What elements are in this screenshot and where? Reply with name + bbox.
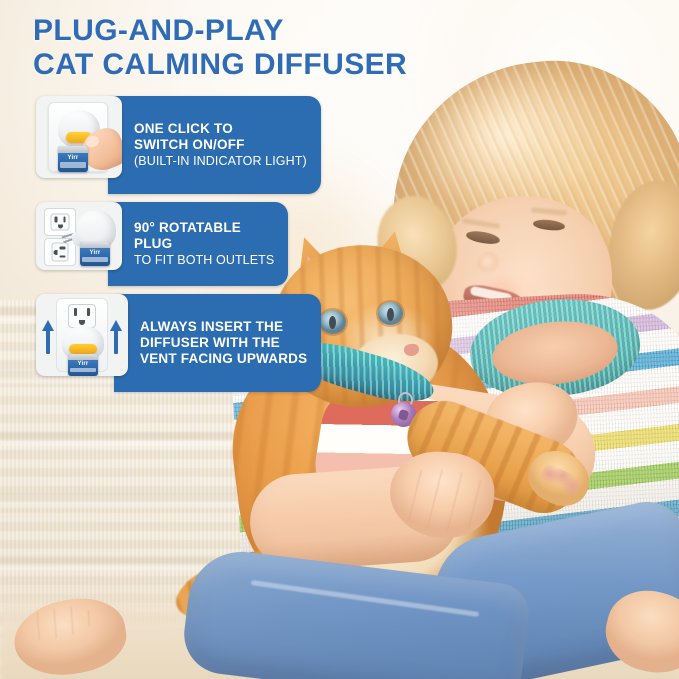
bottle-cap-icon <box>68 354 98 360</box>
socket-ground-slot <box>58 225 63 229</box>
bottle-brand-label: Yirr <box>68 361 98 367</box>
bottle-label-band <box>82 257 107 262</box>
headline-line-1: PLUG-AND-PLAY <box>33 14 284 47</box>
refill-bottle-icon: Yirr <box>68 354 98 376</box>
outlet-horizontal-icon <box>44 238 76 266</box>
feature-callout-vent-upwards: ALWAYS INSERT THE DIFFUSER WITH THE VENT… <box>114 294 321 392</box>
callout-line: ALWAYS INSERT THE <box>140 319 307 335</box>
feature-callout-rotatable-plug: 90° ROTATABLE PLUG TO FIT BOTH OUTLETS <box>108 202 288 286</box>
product-marketing-image: PLUG-AND-PLAY CAT CALMING DIFFUSER Yirr … <box>0 0 679 679</box>
feature-vent-upwards: Yirr ALWAYS INSERT THE DIFFUSER WITH THE… <box>36 294 304 392</box>
socket-prong-slot <box>60 247 66 250</box>
feature-callout-one-click: ONE CLICK TO SWITCH ON/OFF (BUILT-IN IND… <box>108 96 321 194</box>
bottle-label-band <box>60 162 85 168</box>
bottle-brand-label: Yirr <box>80 250 110 256</box>
socket-face-horizontal <box>52 243 69 262</box>
callout-line: TO FIT BOTH OUTLETS <box>134 252 274 268</box>
socket-prong-slot <box>60 255 66 258</box>
socket-prong-slot <box>87 308 90 316</box>
bottle-brand-label: Yirr <box>58 155 88 161</box>
socket-ground-slot <box>79 320 85 325</box>
feature-thumbnail-vent-upwards: Yirr <box>36 294 128 376</box>
up-arrow-icon <box>42 320 54 354</box>
callout-line: (BUILT-IN INDICATOR LIGHT) <box>134 153 307 169</box>
refill-bottle-icon: Yirr <box>80 242 110 266</box>
socket-prong-slot <box>55 217 58 223</box>
feature-list: Yirr ONE CLICK TO SWITCH ON/OFF (BUILT-I… <box>36 96 304 392</box>
kitten-pupil-left <box>329 316 336 329</box>
refill-bottle-icon: Yirr <box>58 146 88 172</box>
feature-one-click-switch: Yirr ONE CLICK TO SWITCH ON/OFF (BUILT-I… <box>36 96 304 194</box>
bottle-cap-icon <box>80 242 110 248</box>
callout-line: PLUG <box>134 236 274 252</box>
headline-line-2: CAT CALMING DIFFUSER <box>33 48 463 82</box>
child-nose <box>477 252 503 276</box>
kitten-pupil-right <box>387 308 394 321</box>
callout-line: VENT FACING UPWARDS <box>140 351 307 367</box>
bottle-cap-icon <box>58 146 88 153</box>
callout-line: 90° ROTATABLE <box>134 220 274 236</box>
socket-ground-slot <box>54 250 58 255</box>
callout-line: ONE CLICK TO <box>134 121 307 137</box>
callout-line: DIFFUSER WITH THE <box>140 335 307 351</box>
socket-prong-slot <box>63 217 66 223</box>
feature-thumbnail-one-click: Yirr <box>36 96 122 178</box>
feature-thumbnail-rotatable-plug: Yirr <box>36 202 122 270</box>
feature-rotatable-plug: Yirr 90° ROTATABLE PLUG TO FIT BOTH OUTL… <box>36 202 304 286</box>
outlet-icon <box>68 304 96 328</box>
arrow-shaft <box>114 330 118 354</box>
arrow-shaft <box>46 330 50 354</box>
socket-prong-slot <box>74 308 77 316</box>
bottle-label-band <box>70 368 95 373</box>
vent-icon <box>69 344 97 354</box>
socket-face-vertical <box>51 214 70 231</box>
up-arrow-icon <box>110 320 122 354</box>
page-title: PLUG-AND-PLAY CAT CALMING DIFFUSER <box>33 14 463 82</box>
callout-line: SWITCH ON/OFF <box>134 137 307 153</box>
